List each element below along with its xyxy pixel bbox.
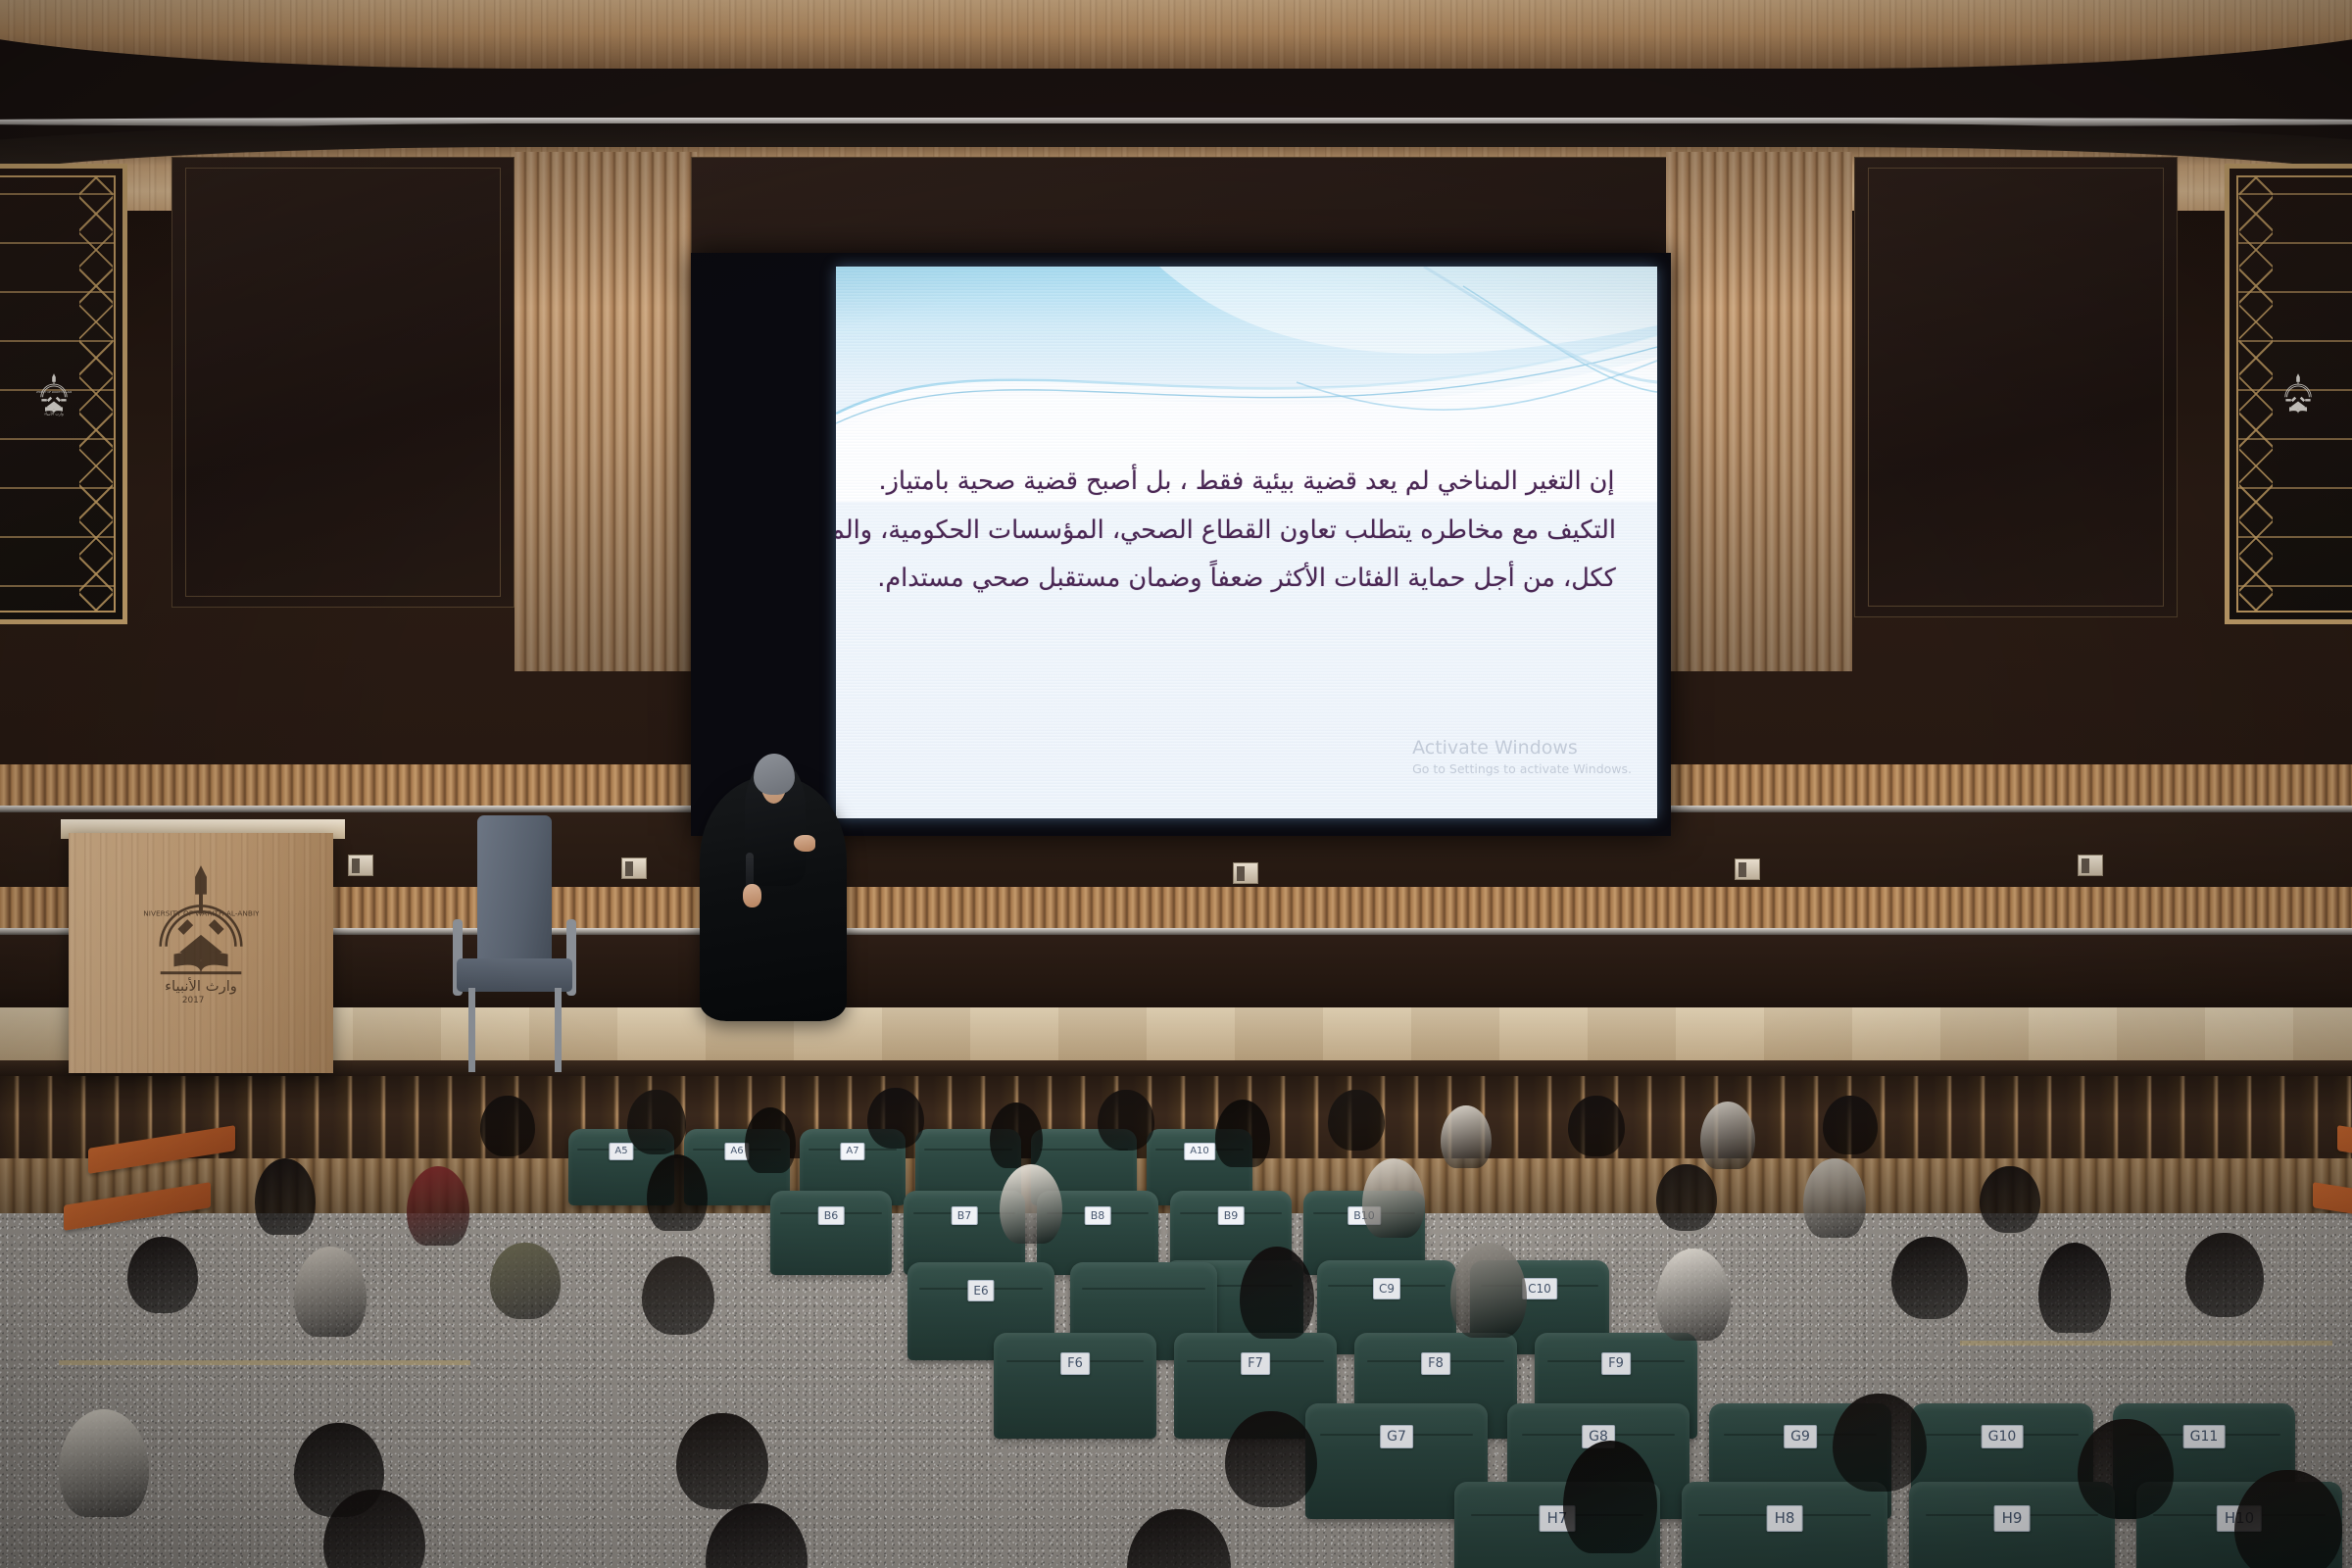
- person-head: [1980, 1166, 2040, 1233]
- seat-number-label: C9: [1373, 1278, 1400, 1299]
- wall-socket-3: [1233, 862, 1258, 884]
- audience-member: [1980, 1166, 2040, 1233]
- seat-number-label: F9: [1601, 1352, 1631, 1375]
- presenter-hijab: [754, 754, 795, 795]
- seat-number-label: B7: [952, 1206, 978, 1225]
- wall-socket-4: [1735, 858, 1760, 880]
- person-head: [867, 1088, 924, 1149]
- stage-wood-band: [0, 887, 2352, 928]
- wall-panel-right-dark: [1854, 157, 2178, 617]
- seat-number-label: F8: [1421, 1352, 1450, 1375]
- projection-screen[interactable]: إن التغير المناخي لم يعد قضية بيئية فقط …: [836, 267, 1657, 818]
- audience-member-hijab: [745, 1107, 796, 1164]
- presenter-raised-hand: [794, 835, 815, 852]
- seat-number-label: E6: [967, 1280, 994, 1301]
- presenter-hand-holding-mic: [743, 884, 761, 907]
- person-head: [1225, 1411, 1317, 1507]
- audience-member-hijab: [407, 1166, 469, 1235]
- audience-member: [627, 1090, 686, 1154]
- audience-member-hijab: [1362, 1158, 1425, 1227]
- seat-number-label: B6: [818, 1206, 845, 1225]
- person-head: [1833, 1394, 1927, 1492]
- person-head: [1000, 1164, 1062, 1244]
- aisle-strip-1: [59, 1360, 470, 1365]
- person-head: [2234, 1470, 2342, 1568]
- person-head: [1891, 1237, 1968, 1319]
- wall-slat-panel-left: [514, 152, 697, 671]
- audience-member: [642, 1256, 714, 1335]
- person-head: [1240, 1247, 1314, 1339]
- audience-member: [1656, 1164, 1717, 1231]
- wall-emblem-arabic: وارث الأنبياء: [44, 411, 64, 416]
- wall-emblem-right: [2225, 164, 2352, 624]
- person-head: [676, 1413, 768, 1509]
- audience-member: [480, 1096, 535, 1156]
- stage-chrome-rail: [0, 928, 2352, 935]
- stage-chair-leg-left: [468, 988, 475, 1072]
- audience-member: [490, 1243, 561, 1319]
- person-head: [127, 1237, 198, 1313]
- stage-chair-seat[interactable]: [457, 958, 572, 992]
- podium-emblem-label: UNIVERSITY OF WARITH AL-ANBIYA: [143, 908, 259, 917]
- stage-back-dark-wall: [0, 935, 2352, 1009]
- seat-number-label: F6: [1060, 1352, 1090, 1375]
- seat-number-label: G7: [1380, 1425, 1413, 1448]
- watermark-title: Activate Windows: [1412, 738, 1632, 759]
- audience-member-hijab: [2038, 1243, 2111, 1321]
- person-head: [1656, 1164, 1717, 1231]
- person-head: [1098, 1090, 1154, 1151]
- audience-member-hijab: [294, 1247, 367, 1325]
- seat-number-label: A10: [1184, 1143, 1215, 1160]
- podium-emblem-arabic: وارث الأنبياء: [165, 977, 237, 995]
- person-head: [2185, 1233, 2264, 1317]
- person-head: [294, 1247, 367, 1337]
- person-head: [1127, 1509, 1231, 1568]
- person-head: [407, 1166, 469, 1246]
- wall-socket-1: [348, 855, 373, 876]
- slide-line-2: التكيف مع مخاطره يتطلب تعاون القطاع الصح…: [877, 507, 1616, 556]
- audience-member-hijab: [1803, 1158, 1866, 1227]
- person-head: [990, 1102, 1043, 1168]
- university-logo-left: UNIVERSITY OF WARITH AL-ANBIYA وارث الأن…: [36, 214, 72, 574]
- audience-member: [1568, 1096, 1625, 1156]
- wall-panel-left-dark: [171, 157, 514, 608]
- watermark-subtitle: Go to Settings to activate Windows.: [1412, 761, 1632, 777]
- audience-member: [867, 1088, 924, 1149]
- audience-member-hijab: [1000, 1164, 1062, 1233]
- presenter: [700, 727, 847, 1021]
- podium-university-logo-icon: UNIVERSITY OF WARITH AL-ANBIYA وارث الأن…: [143, 857, 259, 1004]
- audience-member-hijab: [59, 1409, 149, 1503]
- seat-number-label: A7: [840, 1143, 864, 1160]
- slide-line-3: ككل، من أجل حماية الفئات الأكثر ضعفاً وض…: [877, 555, 1616, 604]
- audience-member: [1098, 1090, 1154, 1151]
- audience-member: [2078, 1419, 2174, 1519]
- auditorium-seat[interactable]: [994, 1333, 1156, 1439]
- audience-member-hijab: [1656, 1249, 1731, 1329]
- person-head: [2078, 1419, 2174, 1519]
- person-head: [1563, 1441, 1657, 1553]
- audience-member-hijab: [1563, 1441, 1657, 1539]
- audience-member: [1127, 1509, 1231, 1568]
- activate-windows-watermark: Activate Windows Go to Settings to activ…: [1412, 738, 1632, 777]
- person-head: [480, 1096, 535, 1156]
- audience-member: [676, 1413, 768, 1509]
- audience-member: [2185, 1233, 2264, 1317]
- audience-member-hijab: [1450, 1243, 1527, 1325]
- audience-member-hijab: [990, 1102, 1043, 1159]
- seat-number-label: G10: [1982, 1425, 2024, 1448]
- podium-emblem-year: 2017: [182, 996, 205, 1004]
- seat-number-label: F7: [1241, 1352, 1270, 1375]
- warith-al-anbiya-logo-icon-right: [2280, 214, 2316, 574]
- seat-number-label: H9: [1994, 1505, 2031, 1532]
- wall-emblem-left: UNIVERSITY OF WARITH AL-ANBIYA وارث الأن…: [0, 164, 127, 624]
- aisle-strip-2: [1960, 1341, 2332, 1346]
- person-head: [642, 1256, 714, 1335]
- person-head: [1450, 1243, 1527, 1338]
- person-head: [490, 1243, 561, 1319]
- person-head: [59, 1409, 149, 1517]
- audience-member-hijab: [1240, 1247, 1314, 1327]
- audience-member-hijab: [1700, 1102, 1755, 1160]
- seat-number-label: G11: [2183, 1425, 2226, 1448]
- audience-member: [1891, 1237, 1968, 1319]
- wall-socket-2: [621, 857, 647, 879]
- wall-emblem-label: UNIVERSITY OF WARITH AL-ANBIYA: [36, 390, 72, 394]
- audience-member: [1823, 1096, 1878, 1154]
- audience-member-hijab: [1215, 1100, 1270, 1158]
- person-head: [1215, 1100, 1270, 1167]
- university-logo-right: [2280, 214, 2316, 574]
- person-head: [323, 1490, 425, 1568]
- audience-member-hijab: [647, 1154, 708, 1221]
- audience-member-hijab: [1441, 1105, 1492, 1160]
- audience-member-hijab: [255, 1158, 316, 1225]
- person-head: [647, 1154, 708, 1231]
- seat-number-label: H8: [1767, 1505, 1803, 1532]
- slide-body-text: إن التغير المناخي لم يعد قضية بيئية فقط …: [877, 458, 1616, 604]
- wall-slat-panel-right: [1666, 152, 1852, 671]
- person-head: [627, 1090, 686, 1154]
- stage-floor: [0, 1007, 2352, 1068]
- person-head: [1700, 1102, 1755, 1169]
- person-head: [1441, 1105, 1492, 1168]
- wall-socket-5: [2078, 855, 2103, 876]
- audience-member: [1833, 1394, 1927, 1492]
- person-head: [2038, 1243, 2111, 1333]
- seat-number-label: C10: [1522, 1278, 1557, 1299]
- audience-member: [706, 1503, 808, 1568]
- podium[interactable]: UNIVERSITY OF WARITH AL-ANBIYA وارث الأن…: [69, 833, 333, 1073]
- person-head: [706, 1503, 808, 1568]
- warith-al-anbiya-logo-icon: UNIVERSITY OF WARITH AL-ANBIYA وارث الأن…: [36, 214, 72, 574]
- audience-member: [1225, 1411, 1317, 1507]
- seat-number-label: G9: [1784, 1425, 1817, 1448]
- audience-member: [1328, 1090, 1385, 1151]
- auditorium-photo: UNIVERSITY OF WARITH AL-ANBIYA وارث الأن…: [0, 0, 2352, 1568]
- person-head: [255, 1158, 316, 1235]
- audience-member: [323, 1490, 425, 1568]
- person-head: [1362, 1158, 1425, 1238]
- ceiling-wood-band-1: [0, 0, 2352, 69]
- person-head: [1803, 1158, 1866, 1238]
- auditorium-seat[interactable]: [770, 1191, 892, 1275]
- audience-member: [2234, 1470, 2342, 1568]
- person-head: [1823, 1096, 1878, 1154]
- seat-number-label: B8: [1085, 1206, 1111, 1225]
- slide-line-1: إن التغير المناخي لم يعد قضية بيئية فقط …: [877, 458, 1616, 507]
- person-head: [1328, 1090, 1385, 1151]
- seat-number-label: B9: [1218, 1206, 1245, 1225]
- person-head: [745, 1107, 796, 1173]
- audience-member: [127, 1237, 198, 1313]
- person-head: [1656, 1249, 1731, 1341]
- stage-chair-leg-right: [555, 988, 562, 1072]
- person-head: [1568, 1096, 1625, 1156]
